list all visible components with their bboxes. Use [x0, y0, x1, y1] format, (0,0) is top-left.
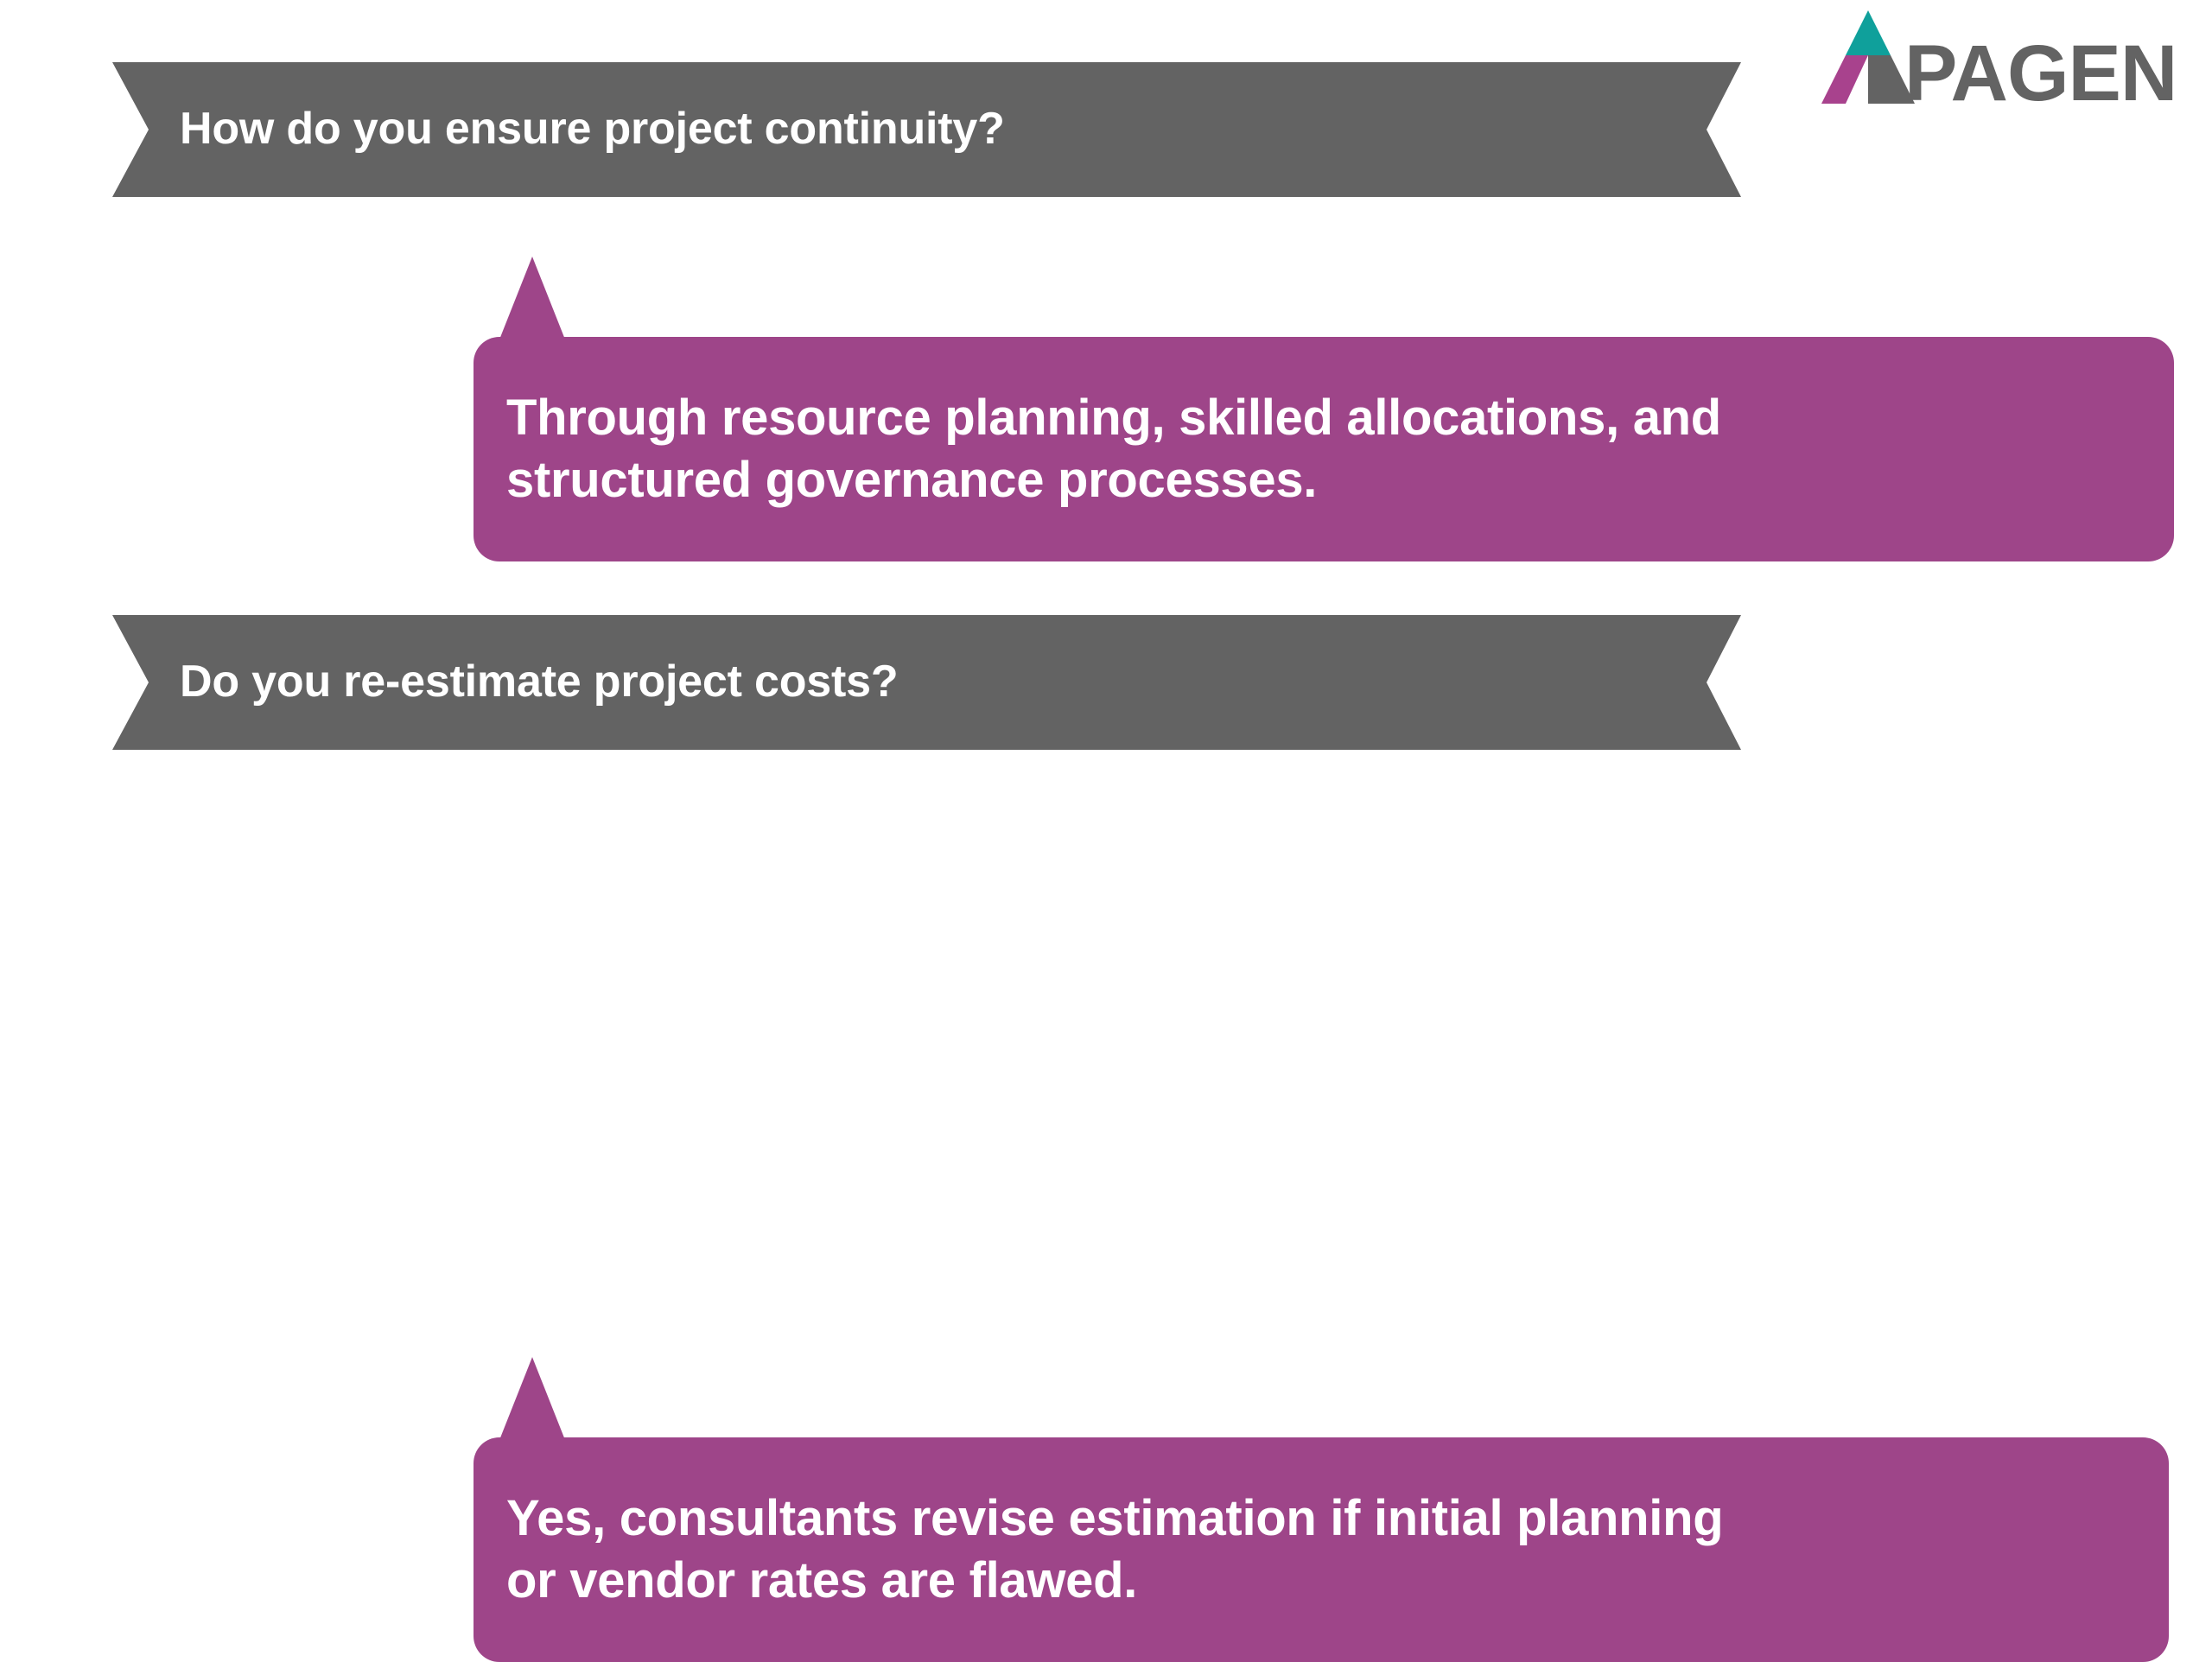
answer-line: structured governance processes.	[506, 449, 1721, 511]
answer-bubble-2: Yes, consultants revise estimation if in…	[474, 1437, 2169, 1662]
answer-bubble-1: Through resource planning, skilled alloc…	[474, 337, 2174, 561]
answer-line: or vendor rates are flawed.	[506, 1550, 1723, 1612]
faq-item-1: How do you ensure project continuity? Th…	[0, 62, 2212, 197]
question-text-1: How do you ensure project continuity?	[112, 105, 1005, 154]
logo-teal-apex-icon	[1846, 10, 1891, 55]
answer-text-2: Yes, consultants revise estimation if in…	[474, 1488, 1761, 1612]
answer-pointer-icon-1	[499, 257, 565, 339]
question-banner-1: How do you ensure project continuity?	[112, 62, 1741, 197]
faq-item-2: Do you re-estimate project costs? Yes, c…	[0, 615, 2212, 750]
answer-line: Through resource planning, skilled alloc…	[506, 387, 1721, 449]
answer-pointer-icon-2	[499, 1357, 565, 1440]
answer-line: Yes, consultants revise estimation if in…	[506, 1488, 1723, 1550]
question-banner-2: Do you re-estimate project costs?	[112, 615, 1741, 750]
answer-text-1: Through resource planning, skilled alloc…	[474, 387, 1759, 511]
faq-graphic: PAGEN How do you ensure project continui…	[0, 0, 2212, 1106]
question-text-2: Do you re-estimate project costs?	[112, 657, 898, 707]
